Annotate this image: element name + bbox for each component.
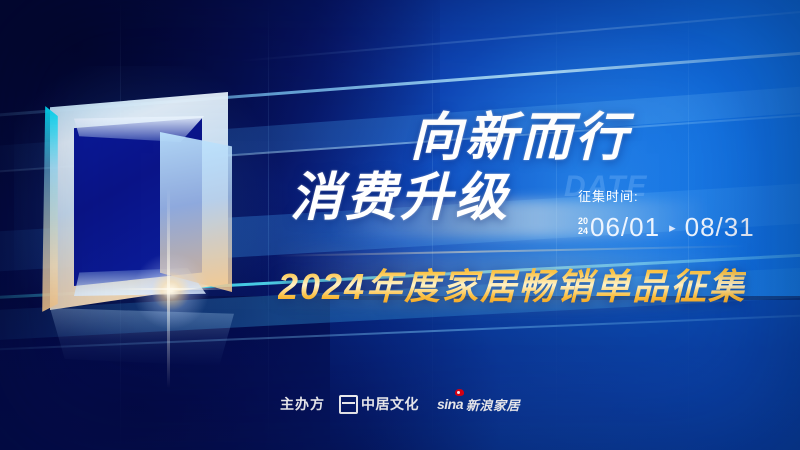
portal-door-graphic: [42, 92, 252, 324]
gold-subtitle: 2024年度家居畅销单品征集: [278, 258, 746, 310]
sponsor-zhongju-name: 中居文化: [361, 394, 419, 414]
promo-banner: 向新而行 消费升级 DATE 征集时间: 20 24 06/01 ▸ 08/31…: [0, 0, 800, 450]
date-block: DATE 征集时间: 20 24 06/01 ▸ 08/31: [578, 186, 755, 243]
date-start: 06/01: [590, 212, 660, 243]
date-range-row: 20 24 06/01 ▸ 08/31: [578, 212, 755, 243]
sponsor-sina-name: 新浪家居: [466, 395, 520, 414]
arrow-right-icon: ▸: [669, 220, 676, 236]
floor-glow-right: [330, 300, 800, 450]
light-streak: [240, 4, 800, 62]
year-stack: 20 24: [578, 217, 588, 238]
sina-wordmark: sina: [437, 396, 463, 412]
portal-reflection: [50, 308, 234, 366]
sina-eye-icon: [455, 389, 464, 396]
sponsor-sina-logo: sina 新浪家居: [437, 395, 520, 414]
zhongju-mark-icon: [339, 395, 358, 414]
light-burst-horizontal-ray: [114, 288, 232, 290]
headline-line-2: 消费升级: [290, 172, 510, 224]
organizer-label: 主办方: [280, 394, 325, 414]
headline-line-1: 向新而行: [410, 112, 630, 164]
date-end: 08/31: [685, 212, 755, 243]
sponsor-footer: 主办方 中居文化 sina 新浪家居: [0, 392, 800, 416]
sponsor-zhongju-logo: 中居文化: [339, 394, 419, 414]
date-label: 征集时间:: [578, 186, 755, 205]
year-bottom: 24: [578, 227, 588, 236]
